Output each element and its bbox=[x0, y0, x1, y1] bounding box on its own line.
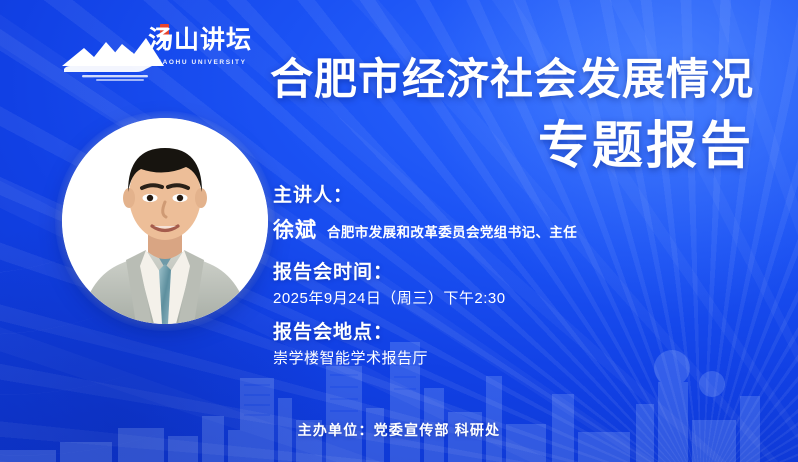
event-details: 主讲人： 徐斌 合肥市发展和改革委员会党组书记、主任 报告会时间： 2025年9… bbox=[273, 186, 753, 383]
logo-chinese-name: 汤山讲坛 bbox=[148, 28, 252, 53]
speaker-title: 合肥市发展和改革委员会党组书记、主任 bbox=[327, 221, 577, 241]
venue-value: 崇学楼智能学术报告厅 bbox=[273, 351, 753, 366]
title-line-2: 专题报告 bbox=[194, 118, 754, 174]
speaker-row: 徐斌 合肥市发展和改革委员会党组书记、主任 bbox=[273, 214, 753, 244]
time-value: 2025年9月24日（周三）下午2:30 bbox=[273, 291, 753, 306]
page-title: 合肥市经济社会发展情况 专题报告 bbox=[194, 56, 754, 174]
organizer-footer: 主办单位：党委宣传部 科研处 bbox=[0, 420, 798, 440]
speaker-label: 主讲人： bbox=[273, 186, 753, 205]
avatar bbox=[62, 118, 268, 324]
speaker-name: 徐斌 bbox=[273, 214, 317, 244]
title-line-1: 合肥市经济社会发展情况 bbox=[194, 56, 754, 104]
venue-label: 报告会地点： bbox=[273, 323, 753, 342]
speaker-portrait-wrapper bbox=[62, 118, 268, 324]
time-label: 报告会时间： bbox=[273, 263, 753, 282]
poster-canvas: 汤山讲坛 CHAOHU UNIVERSITY 合肥市经济社会发展情况 专题报告 bbox=[0, 0, 798, 462]
